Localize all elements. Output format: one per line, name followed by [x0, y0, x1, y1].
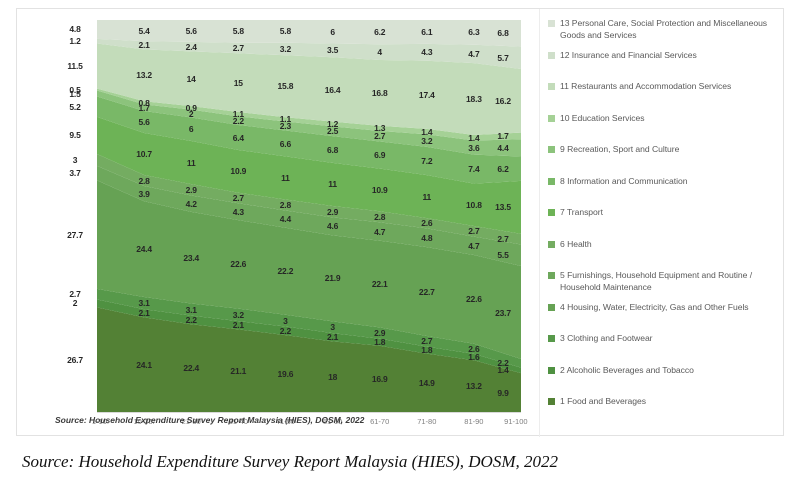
legend-swatch-icon [548, 52, 555, 59]
data-label: 0.5 [69, 85, 80, 95]
data-label: 5.2 [69, 102, 80, 112]
plot-wrapper: 26.724.122.421.119.61816.914.913.29.922.… [17, 9, 537, 437]
legend-item-label: 9 Recreation, Sport and Culture [560, 144, 679, 156]
area-bands-svg [97, 20, 521, 412]
legend-swatch-icon [548, 241, 555, 248]
legend-item[interactable]: 2 Alcoholic Beverages and Tobacco [548, 365, 779, 397]
legend-item-label: 4 Housing, Water, Electricity, Gas and O… [560, 302, 749, 314]
legend-swatch-icon [548, 209, 555, 216]
stacked-area-plot [97, 20, 521, 412]
legend-item-label: 5 Furnishings, Household Equipment and R… [560, 270, 779, 293]
data-label: 2 [73, 298, 78, 308]
legend-swatch-icon [548, 178, 555, 185]
legend-item-label: 8 Information and Communication [560, 176, 687, 188]
x-axis-tick: 81-90 [464, 417, 483, 426]
data-label: 2.7 [69, 289, 80, 299]
data-label: 27.7 [67, 230, 83, 240]
legend-swatch-icon [548, 146, 555, 153]
legend-item[interactable]: 5 Furnishings, Household Equipment and R… [548, 270, 779, 302]
data-label: 1.5 [69, 89, 80, 99]
legend-item-label: 13 Personal Care, Social Protection and … [560, 18, 779, 41]
legend-swatch-icon [548, 83, 555, 90]
data-label: 9.5 [69, 130, 80, 140]
legend-swatch-icon [548, 115, 555, 122]
legend-swatch-icon [548, 367, 555, 374]
figure-caption: Source: Household Expenditure Survey Rep… [22, 452, 558, 472]
x-axis-tick: 91-100 [504, 417, 527, 426]
legend-item[interactable]: 7 Transport [548, 207, 779, 239]
legend-swatch-icon [548, 304, 555, 311]
data-label: 3 [73, 155, 78, 165]
legend-item-label: 7 Transport [560, 207, 603, 219]
legend-swatch-icon [548, 272, 555, 279]
screenshot-root: 26.724.122.421.119.61816.914.913.29.922.… [0, 0, 800, 500]
chart-card: 26.724.122.421.119.61816.914.913.29.922.… [16, 8, 784, 436]
legend-item[interactable]: 9 Recreation, Sport and Culture [548, 144, 779, 176]
legend-item-label: 2 Alcoholic Beverages and Tobacco [560, 365, 694, 377]
data-label: 26.7 [67, 355, 83, 365]
legend-item[interactable]: 6 Health [548, 239, 779, 271]
legend-item[interactable]: 8 Information and Communication [548, 176, 779, 208]
legend-item[interactable]: 12 Insurance and Financial Services [548, 50, 779, 82]
data-label: 4.8 [69, 24, 80, 34]
legend-item[interactable]: 11 Restaurants and Accommodation Service… [548, 81, 779, 113]
legend-swatch-icon [548, 335, 555, 342]
legend-item-label: 6 Health [560, 239, 592, 251]
data-label: 11.5 [67, 61, 82, 71]
legend-item[interactable]: 1 Food and Beverages [548, 396, 779, 428]
legend-item-label: 1 Food and Beverages [560, 396, 646, 408]
legend-item[interactable]: 10 Education Services [548, 113, 779, 145]
chart-legend: 13 Personal Care, Social Protection and … [539, 9, 785, 437]
legend-item[interactable]: 4 Housing, Water, Electricity, Gas and O… [548, 302, 779, 334]
data-label: 1.2 [69, 36, 80, 46]
legend-item-label: 12 Insurance and Financial Services [560, 50, 697, 62]
legend-item[interactable]: 3 Clothing and Footwear [548, 333, 779, 365]
x-axis-tick: 71-80 [417, 417, 436, 426]
legend-swatch-icon [548, 20, 555, 27]
legend-swatch-icon [548, 398, 555, 405]
data-label: 3.7 [69, 168, 80, 178]
legend-item-label: 11 Restaurants and Accommodation Service… [560, 81, 731, 93]
legend-item-label: 10 Education Services [560, 113, 644, 125]
chart-source-note: Source: Household Expenditure Survey Rep… [55, 415, 364, 425]
x-axis-tick: 61-70 [370, 417, 389, 426]
legend-item-label: 3 Clothing and Footwear [560, 333, 652, 345]
legend-item[interactable]: 13 Personal Care, Social Protection and … [548, 18, 779, 50]
